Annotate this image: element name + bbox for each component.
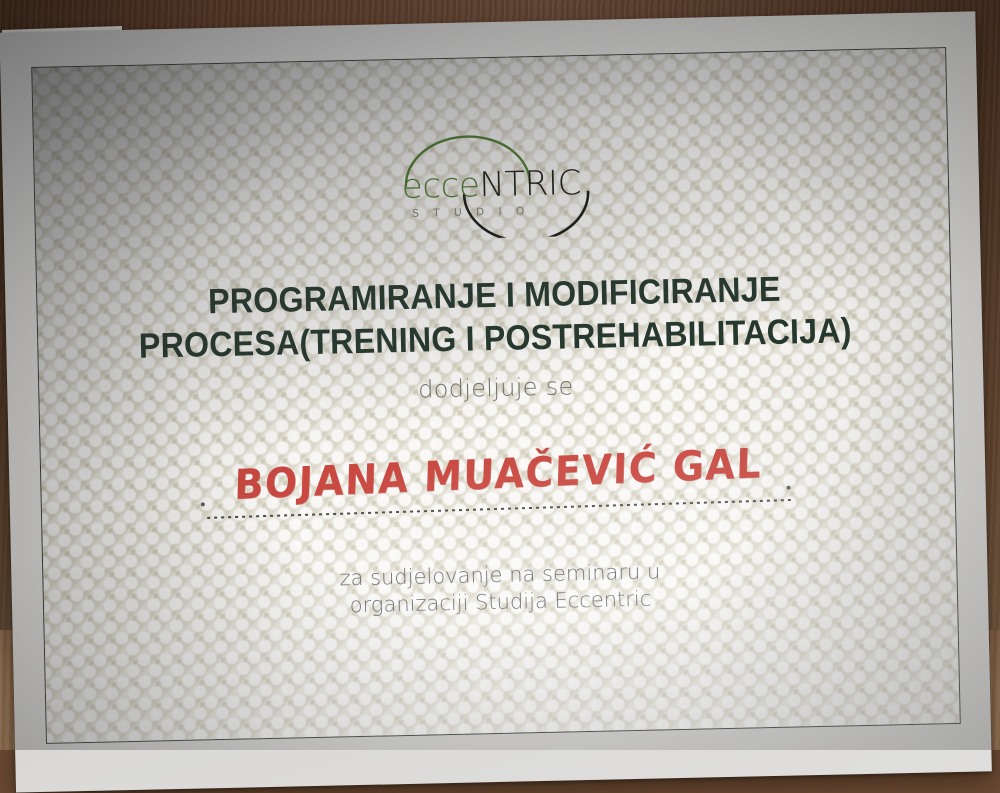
certificate-photo: ecceNTRIC S T U D I O PROGRAMIRANJE I MO… [0,0,1000,750]
recipient-name-zone: BOJANA MUAČEVIĆ GAL [197,445,799,534]
eccentric-studio-logo: ecceNTRIC S T U D I O [377,130,605,241]
signature-line-start-dot [200,502,204,506]
certificate-content: ecceNTRIC S T U D I O PROGRAMIRANJE I MO… [32,48,960,743]
logo-wordmark: ecceNTRIC [378,163,605,208]
certificate-subtitle: dodjeljuje se [418,372,574,403]
footer-line-2: organizaciji Studija Eccentric [340,585,661,619]
certificate-title: PROGRAMIRANJE I MODIFICIRANJE PROCESA(TR… [130,266,859,368]
signature-line-end-dot [786,486,790,490]
certificate-printed-field: ecceNTRIC S T U D I O PROGRAMIRANJE I MO… [31,47,961,744]
certificate-paper[interactable]: ecceNTRIC S T U D I O PROGRAMIRANJE I MO… [0,11,992,792]
logo-text-ntric: NTRIC [479,163,581,205]
certificate-footer: za sudjelovanje na seminaru u organizaci… [339,558,661,619]
recipient-handwritten-name: BOJANA MUAČEVIĆ GAL [197,438,798,510]
logo-text-ecce: ecce [401,165,479,207]
